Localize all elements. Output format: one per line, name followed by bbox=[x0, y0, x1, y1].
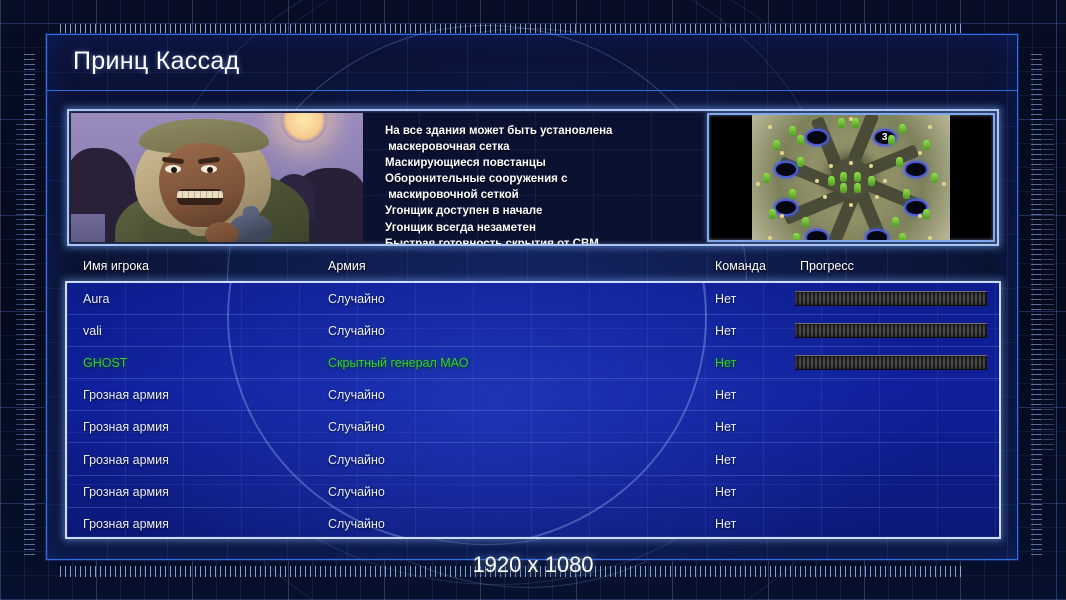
progress-bar bbox=[795, 323, 987, 338]
minimap-foliage bbox=[763, 173, 770, 183]
minimap[interactable]: 3 bbox=[752, 115, 950, 240]
minimap-supply-dot bbox=[756, 182, 760, 186]
minimap-foliage bbox=[868, 176, 875, 186]
player-table-frame: AuraСлучайноНетvaliСлучайноНетGHOSTСкрыт… bbox=[65, 281, 1001, 539]
column-header-player-name: Имя игрока bbox=[83, 259, 149, 273]
table-cell-army: Случайно bbox=[328, 517, 385, 531]
description-line: Маскирующиеся повстанцы bbox=[385, 155, 707, 171]
table-row[interactable]: Грозная армияСлучайноНет bbox=[67, 476, 999, 508]
table-cell-name: GHOST bbox=[83, 356, 127, 370]
table-cell-team: Нет bbox=[715, 356, 736, 370]
table-cell-name: Грозная армия bbox=[83, 388, 169, 402]
general-info-frame: На все здания может быть установлена мас… bbox=[67, 109, 999, 246]
ruler-right bbox=[1031, 50, 1042, 555]
minimap-foliage bbox=[931, 173, 938, 183]
minimap-supply-dot bbox=[883, 179, 887, 183]
main-panel: Принц Кассад bbox=[46, 34, 1018, 560]
soldier-hand bbox=[205, 222, 239, 242]
table-cell-team: Нет bbox=[715, 324, 736, 338]
table-cell-army: Случайно bbox=[328, 420, 385, 434]
general-description: На все здания может быть установлена мас… bbox=[363, 113, 707, 242]
player-table-headers: Имя игрока Армия Команда Прогресс bbox=[67, 259, 999, 279]
table-cell-army: Скрытный генерал МАО bbox=[328, 356, 468, 370]
sun-icon bbox=[281, 113, 327, 143]
general-portrait bbox=[71, 113, 363, 242]
page-title: Принц Кассад bbox=[73, 47, 239, 76]
description-line-list: На все здания может быть установлена мас… bbox=[385, 123, 707, 246]
minimap-foliage bbox=[797, 157, 804, 167]
description-line: Угонщик всегда незаметен bbox=[385, 220, 707, 236]
soldier-mouth bbox=[177, 189, 223, 205]
minimap-foliage bbox=[793, 233, 800, 240]
soldier-pupil-left bbox=[171, 167, 177, 173]
minimap-frame[interactable]: 3 bbox=[707, 113, 995, 242]
minimap-foliage bbox=[802, 217, 809, 227]
minimap-foliage bbox=[854, 183, 861, 193]
title-bar: Принц Кассад bbox=[47, 35, 1017, 91]
table-cell-team: Нет bbox=[715, 485, 736, 499]
minimap-foliage bbox=[903, 189, 910, 199]
table-cell-name: Грозная армия bbox=[83, 485, 169, 499]
progress-bar bbox=[795, 291, 987, 306]
minimap-foliage bbox=[828, 176, 835, 186]
table-row[interactable]: Грозная армияСлучайноНет bbox=[67, 411, 999, 443]
description-line: Оборонительные сооружения с bbox=[385, 171, 707, 187]
table-row[interactable]: Грозная армияСлучайноНет bbox=[67, 444, 999, 476]
table-cell-name: Грозная армия bbox=[83, 420, 169, 434]
progress-bar bbox=[795, 355, 987, 370]
minimap-foliage bbox=[854, 172, 861, 182]
description-line: На все здания может быть установлена bbox=[385, 123, 707, 139]
minimap-foliage bbox=[840, 183, 847, 193]
table-cell-name: Aura bbox=[83, 292, 109, 306]
minimap-start-position-number: 3 bbox=[882, 133, 888, 143]
table-cell-team: Нет bbox=[715, 292, 736, 306]
ruler-right-secondary bbox=[1043, 120, 1054, 450]
minimap-supply-dot bbox=[928, 125, 932, 129]
table-cell-army: Случайно bbox=[328, 485, 385, 499]
table-cell-army: Случайно bbox=[328, 453, 385, 467]
column-header-army: Армия bbox=[328, 259, 366, 273]
general-info-inner: На все здания может быть установлена мас… bbox=[71, 113, 995, 242]
minimap-supply-dot bbox=[875, 195, 879, 199]
minimap-foliage bbox=[789, 126, 796, 136]
table-cell-team: Нет bbox=[715, 420, 736, 434]
table-cell-army: Случайно bbox=[328, 324, 385, 338]
soldier-pupil-right bbox=[207, 167, 213, 173]
soldier-teeth bbox=[177, 191, 223, 198]
table-cell-name: Грозная армия bbox=[83, 453, 169, 467]
minimap-supply-dot bbox=[829, 164, 833, 168]
minimap-foliage bbox=[888, 135, 895, 145]
minimap-foliage bbox=[892, 217, 899, 227]
table-cell-army: Случайно bbox=[328, 388, 385, 402]
minimap-start-position[interactable] bbox=[904, 161, 928, 178]
soldier-face bbox=[159, 143, 245, 227]
minimap-foliage bbox=[789, 189, 796, 199]
table-row[interactable]: AuraСлучайноНет bbox=[67, 283, 999, 315]
description-line: Угонщик доступен в начале bbox=[385, 203, 707, 219]
minimap-foliage bbox=[797, 135, 804, 145]
minimap-start-position[interactable] bbox=[865, 229, 889, 240]
minimap-foliage bbox=[923, 140, 930, 150]
minimap-foliage bbox=[769, 209, 776, 219]
table-row[interactable]: valiСлучайноНет bbox=[67, 315, 999, 347]
general-info-row: На все здания может быть установлена мас… bbox=[67, 109, 999, 246]
column-header-team: Команда bbox=[715, 259, 766, 273]
minimap-start-position[interactable] bbox=[805, 229, 829, 240]
minimap-supply-dot bbox=[918, 214, 922, 218]
table-cell-name: Грозная армия bbox=[83, 517, 169, 531]
minimap-foliage bbox=[838, 118, 845, 128]
minimap-supply-dot bbox=[918, 151, 922, 155]
minimap-supply-dot bbox=[780, 151, 784, 155]
minimap-supply-dot bbox=[869, 164, 873, 168]
table-cell-team: Нет bbox=[715, 453, 736, 467]
minimap-supply-dot bbox=[768, 125, 772, 129]
description-line: маскеровочная сетка bbox=[385, 139, 707, 155]
minimap-foliage bbox=[899, 124, 906, 134]
table-row[interactable]: Грозная армияСлучайноНет bbox=[67, 508, 999, 539]
resolution-label: 1920 x 1080 bbox=[0, 552, 1066, 578]
minimap-supply-dot bbox=[849, 161, 853, 165]
minimap-foliage bbox=[852, 118, 859, 128]
minimap-foliage bbox=[896, 157, 903, 167]
minimap-foliage bbox=[773, 140, 780, 150]
minimap-supply-dot bbox=[942, 182, 946, 186]
minimap-supply-dot bbox=[768, 236, 772, 240]
minimap-start-position[interactable] bbox=[774, 199, 798, 216]
description-line: маскировочной сеткой bbox=[385, 187, 707, 203]
ruler-left-secondary bbox=[16, 120, 27, 450]
table-cell-team: Нет bbox=[715, 517, 736, 531]
minimap-supply-dot bbox=[928, 236, 932, 240]
table-row[interactable]: GHOSTСкрытный генерал МАОНет bbox=[67, 347, 999, 379]
minimap-foliage bbox=[923, 209, 930, 219]
minimap-supply-dot bbox=[780, 214, 784, 218]
minimap-foliage bbox=[899, 233, 906, 240]
table-cell-army: Случайно bbox=[328, 292, 385, 306]
minimap-foliage bbox=[840, 172, 847, 182]
description-line: Быстрая готовность скрытия от СВМ bbox=[385, 236, 707, 246]
column-header-progress: Прогресс bbox=[800, 259, 854, 273]
table-cell-name: vali bbox=[83, 324, 102, 338]
table-cell-team: Нет bbox=[715, 388, 736, 402]
table-row[interactable]: Грозная армияСлучайноНет bbox=[67, 379, 999, 411]
minimap-start-position[interactable] bbox=[774, 161, 798, 178]
